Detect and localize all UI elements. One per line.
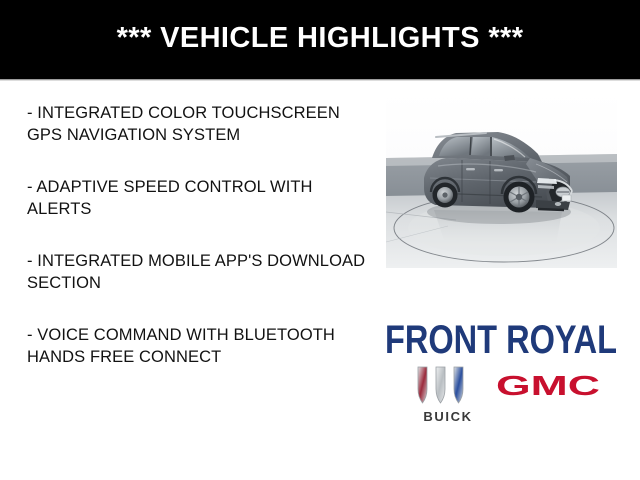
highlight-item: - INTEGRATED COLOR TOUCHSCREEN GPS NAVIG… (27, 103, 367, 146)
highlight-item: - INTEGRATED MOBILE APP'S DOWNLOAD SECTI… (27, 251, 367, 294)
dealer-name-label: FRONT ROYAL (385, 318, 617, 362)
vehicle-highlights-list: - INTEGRATED COLOR TOUCHSCREEN GPS NAVIG… (27, 103, 367, 368)
highlight-item: - ADAPTIVE SPEED CONTROL WITH ALERTS (27, 177, 367, 220)
page-title: *** VEHICLE HIGHLIGHTS *** (117, 24, 524, 53)
vehicle-photo-image (386, 92, 617, 268)
buick-label: BUICK (423, 409, 472, 424)
buick-trishield-icon: BUICK (404, 363, 492, 426)
dealer-name: FRONT ROYAL (382, 316, 620, 362)
gmc-logo: GMC (492, 369, 604, 403)
dealer-logo: FRONT ROYAL (382, 316, 620, 430)
gmc-wordmark-icon: GMC (492, 369, 604, 403)
header-banner: *** VEHICLE HIGHLIGHTS *** (0, 0, 640, 79)
gmc-label: GMC (496, 370, 600, 401)
dealer-name-text: FRONT ROYAL (382, 316, 620, 362)
vehicle-photo (386, 92, 617, 268)
vehicle-highlights-slide: *** VEHICLE HIGHLIGHTS *** - INTEGRATED … (0, 0, 640, 480)
header-divider (0, 79, 640, 81)
highlight-item: - VOICE COMMAND WITH BLUETOOTH HANDS FRE… (27, 325, 367, 368)
buick-logo: BUICK (404, 363, 492, 426)
